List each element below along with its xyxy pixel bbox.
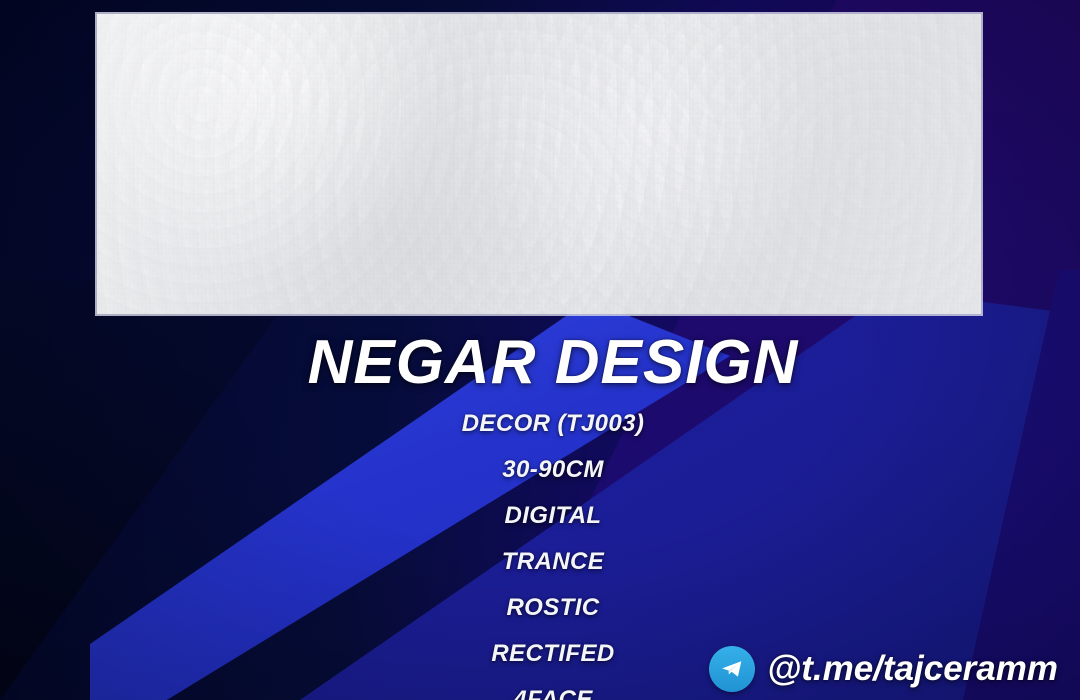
product-info-block: NEGAR DESIGN DECOR (TJ003) 30-90CM DIGIT… [0,332,1080,700]
spec-item-rostic: ROSTIC [0,594,1080,622]
tile-sheen-overlay [97,14,981,314]
telegram-icon [709,646,755,692]
telegram-handle: @t.me/tajceramm [767,649,1058,689]
telegram-watermark[interactable]: @t.me/tajceramm [709,646,1058,692]
tile-product-poster: NEGAR DESIGN DECOR (TJ003) 30-90CM DIGIT… [0,0,1080,700]
spec-item-trance: TRANCE [0,548,1080,576]
spec-item-decor: DECOR (TJ003) [0,410,1080,438]
spec-item-size: 30-90CM [0,456,1080,484]
tile-product-image [97,14,981,314]
product-title: NEGAR DESIGN [0,332,1080,394]
spec-item-digital: DIGITAL [0,502,1080,530]
